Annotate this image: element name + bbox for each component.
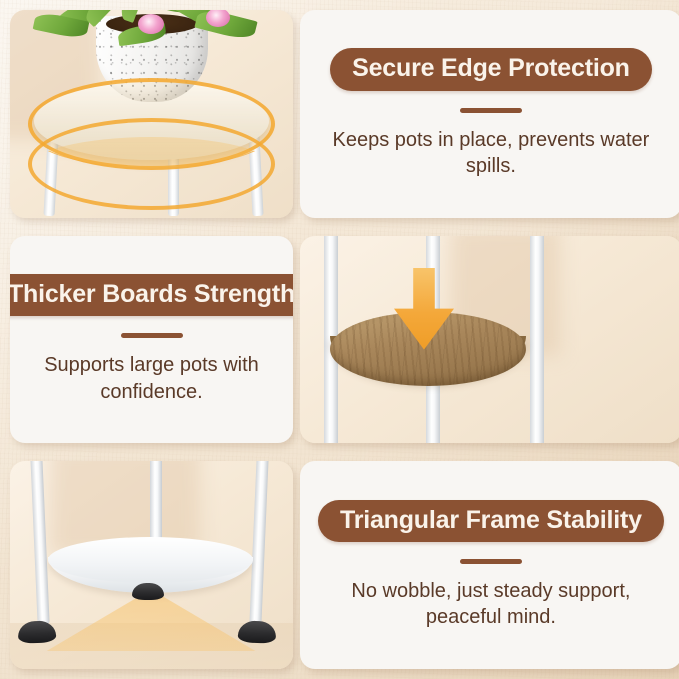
tray-surface: [48, 537, 253, 583]
feature-1-photo-cell: [10, 10, 293, 218]
feature-1-text-cell: Secure Edge Protection Keeps pots in pla…: [300, 10, 679, 218]
rubber-foot: [18, 621, 57, 644]
feature-title-badge: Triangular Frame Stability: [318, 500, 664, 542]
feature-title-badge: Secure Edge Protection: [330, 48, 652, 90]
feature-2-photo-cell: [300, 236, 679, 444]
feature-description: No wobble, just steady support, peaceful…: [326, 578, 656, 631]
rubber-foot: [132, 583, 164, 600]
feature-grid: Secure Edge Protection Keeps pots in pla…: [0, 0, 679, 679]
title-divider: [121, 333, 183, 338]
feature-3-photo-cell: [10, 461, 293, 669]
tripod-feet-stability-photo: [10, 461, 293, 669]
feature-card-thicker-boards-strength: Thicker Boards Strength Supports large p…: [10, 236, 293, 444]
feature-card-triangular-frame-stability: Triangular Frame Stability No wobble, ju…: [300, 461, 679, 669]
stand-post: [530, 236, 544, 444]
feature-description: Supports large pots with confidence.: [28, 352, 275, 405]
feature-2-text-cell: Thicker Boards Strength Supports large p…: [10, 236, 293, 444]
title-divider: [460, 559, 522, 564]
feature-card-secure-edge-protection: Secure Edge Protection Keeps pots in pla…: [300, 10, 679, 218]
title-divider: [460, 108, 522, 113]
plant-flower: [138, 14, 164, 34]
feature-description: Keeps pots in place, prevents water spil…: [326, 127, 656, 180]
thick-wooden-board-photo: [300, 236, 679, 444]
feature-3-text-cell: Triangular Frame Stability No wobble, ju…: [300, 461, 679, 669]
plant-stand-tray-edge-photo: [10, 10, 293, 218]
feature-title-badge: Thicker Boards Strength: [10, 274, 293, 316]
edge-highlight-ring-bottom: [28, 118, 275, 210]
